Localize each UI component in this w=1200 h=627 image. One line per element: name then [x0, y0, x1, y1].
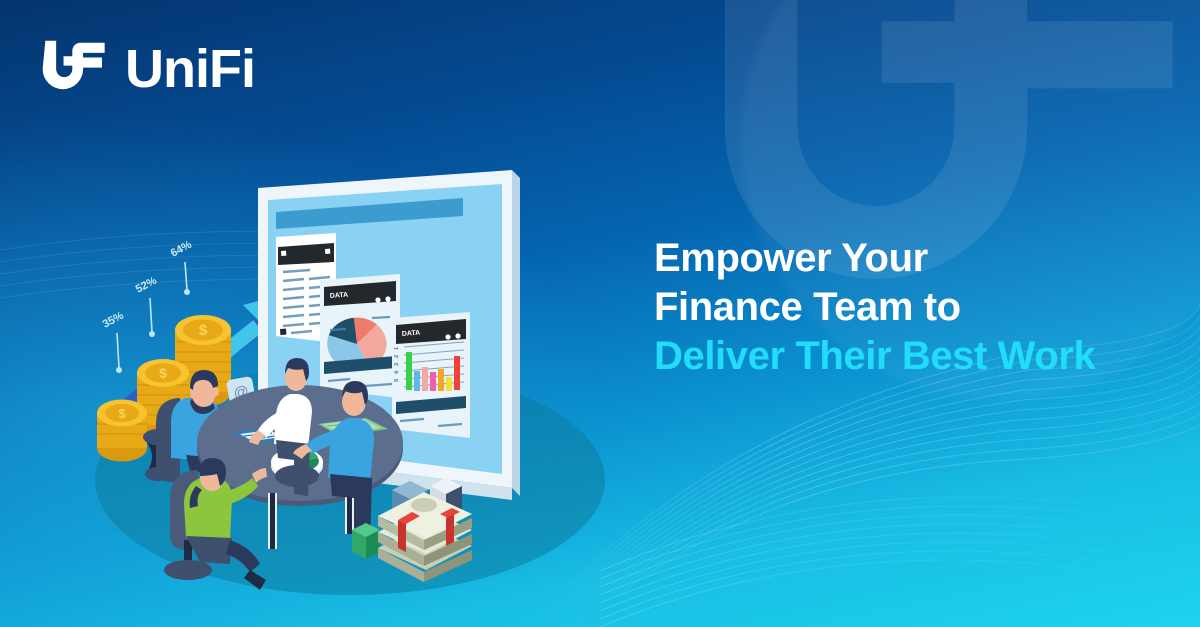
bar-ytick-4: 5 [394, 379, 400, 382]
banner-root: UniFi Empower Your Finance Team to Deliv… [0, 0, 1200, 627]
headline-line-2: Finance Team to [654, 283, 1174, 332]
bar-panel-label: DATA [402, 330, 421, 338]
bar-ytick-1: 2 [394, 355, 400, 358]
bar-ytick-0: 1 [394, 347, 400, 350]
headline-line-3: Deliver Their Best Work [654, 332, 1174, 381]
growth-label-1: 52% [134, 275, 159, 296]
pie-chart-panel: DATA [320, 274, 400, 398]
svg-text:$: $ [199, 322, 208, 339]
headline: Empower Your Finance Team to Deliver The… [654, 234, 1174, 380]
bar-ytick-2: 3 [394, 363, 400, 366]
growth-label-2: 64% [169, 239, 194, 260]
bar-chart-panel: DATA 1 2 3 4 5 [392, 312, 470, 438]
finance-team-illustration: 35% 52% 64% $ [0, 0, 680, 627]
svg-text:$: $ [159, 365, 167, 381]
headline-line-1: Empower Your [654, 234, 1174, 283]
growth-label-0: 35% [101, 310, 126, 331]
pie-panel-label: DATA [330, 292, 349, 300]
svg-text:$: $ [118, 406, 126, 421]
